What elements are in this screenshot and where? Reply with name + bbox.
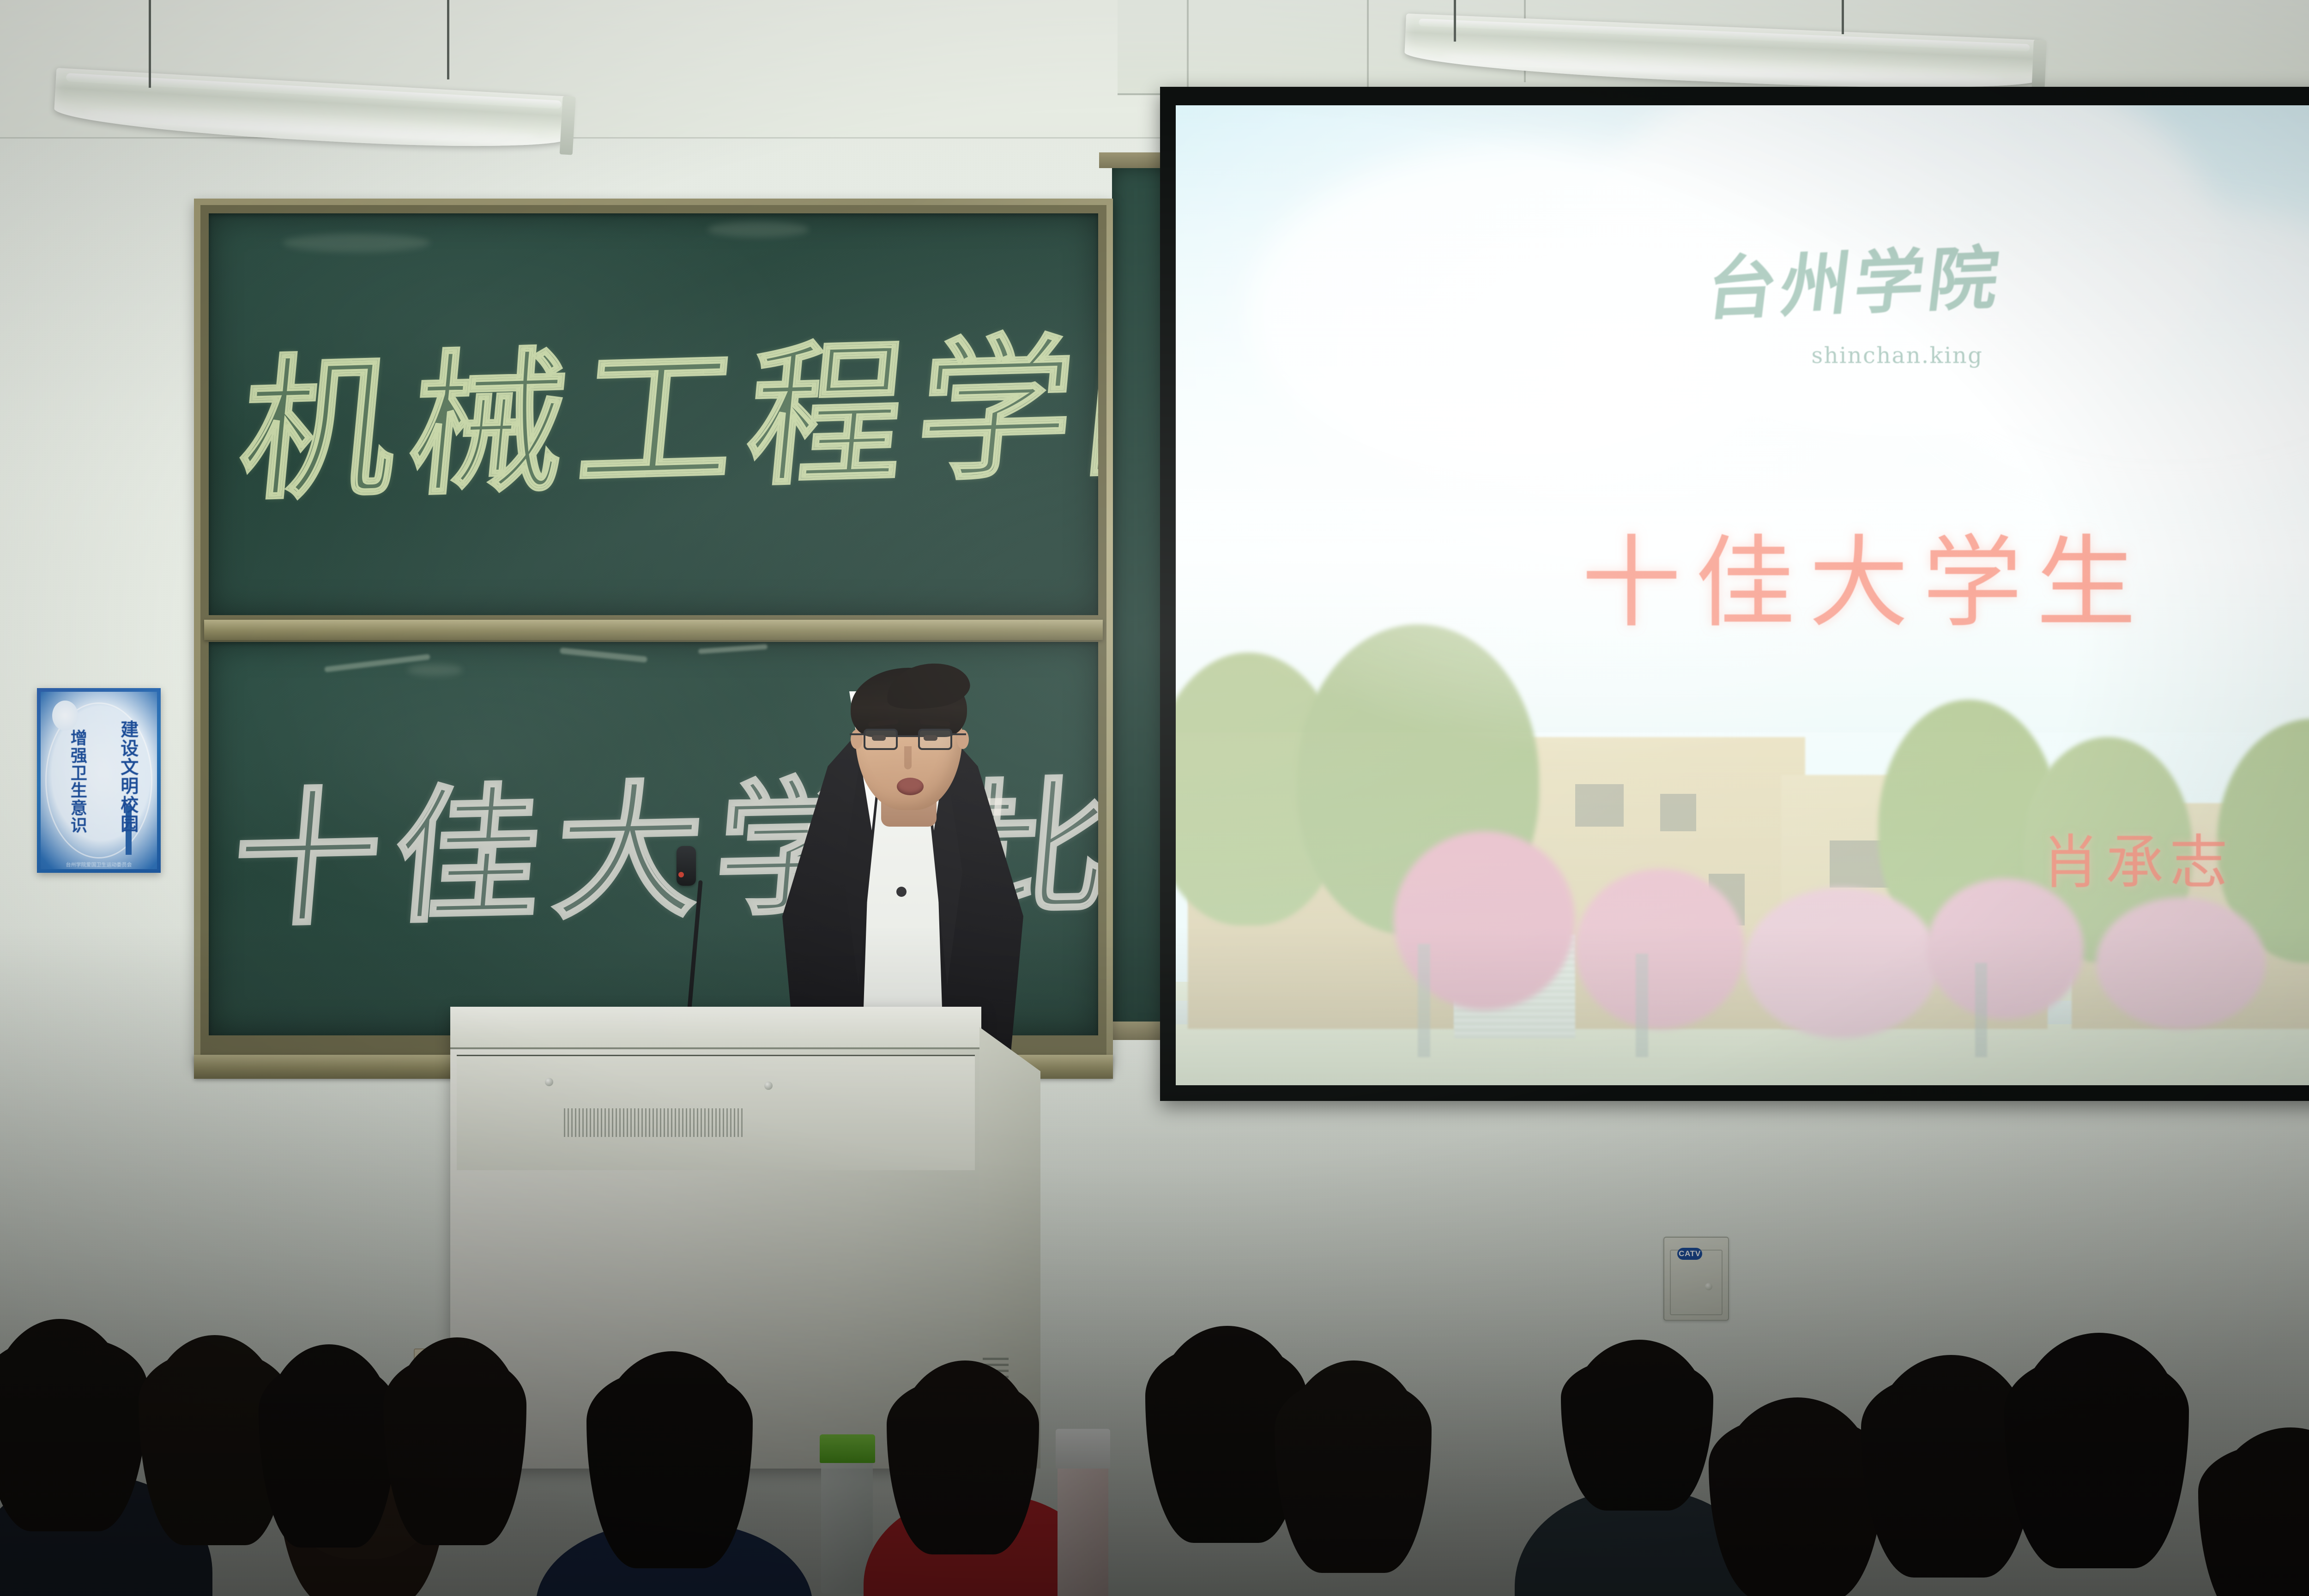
lecture-hall-photo: 机械工程学院 十佳大学生 评比 [0,0,2309,1596]
lens-vignette [0,0,2309,1596]
